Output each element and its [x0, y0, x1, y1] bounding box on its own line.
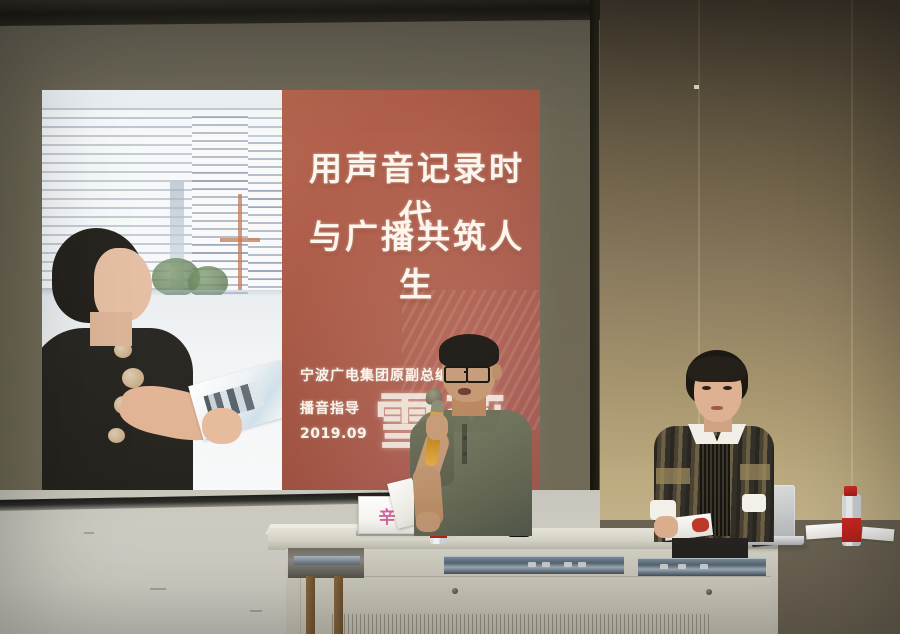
desk-screw	[452, 588, 458, 594]
drawer-rail[interactable]	[444, 556, 624, 574]
desk-screw	[706, 589, 712, 595]
drawer-rail[interactable]	[638, 558, 766, 576]
male-speaker	[406, 338, 546, 530]
speaker-hand	[416, 512, 440, 532]
desk-leg	[334, 576, 343, 634]
female-presenter	[648, 352, 784, 542]
screen-right-edge	[590, 0, 599, 515]
slide-title-line-2: 与广播共筑人生	[294, 210, 540, 306]
glasses-icon	[444, 366, 468, 383]
glasses-icon	[466, 366, 490, 383]
open-drawer-rail	[294, 556, 360, 565]
bottle-cap-icon	[844, 486, 857, 496]
speaker-hand	[426, 414, 448, 440]
photo-scene: 雪莉 用声音记录时代 与广播共筑人生 宁波广电集团原副总编辑 播音指导 2019…	[0, 0, 900, 634]
desk-leg	[306, 576, 315, 634]
desk-ventilation-grille	[332, 614, 712, 634]
slide-photo-person-face	[94, 248, 152, 322]
bottle-label	[842, 518, 861, 542]
slide-date: 2019.09	[300, 426, 367, 442]
slide-subtitle-line-2: 播音指导	[300, 398, 360, 418]
wall-speck	[694, 85, 699, 89]
presenter-hand	[654, 516, 678, 538]
slide-photo	[42, 90, 282, 490]
papers-on-desk[interactable]	[862, 527, 895, 542]
